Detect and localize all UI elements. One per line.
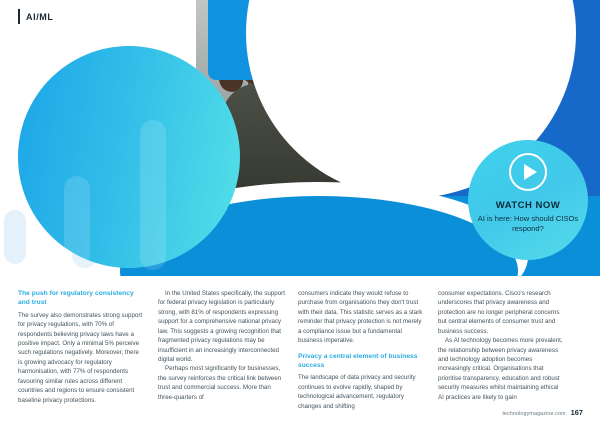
- column-paragraph: Perhaps most significantly for businesse…: [158, 364, 285, 402]
- watch-now-badge[interactable]: WATCH NOW AI is here: How should CISOs r…: [468, 140, 588, 260]
- overlay-pill-2: [140, 120, 166, 270]
- article-columns: The push for regulatory consistency and …: [18, 289, 584, 411]
- footer-site-url[interactable]: technologymagazine.com: [502, 411, 565, 417]
- column-heading: The push for regulatory consistency and …: [18, 289, 145, 308]
- column-paragraph: As AI technology becomes more prevalent,…: [438, 336, 565, 402]
- category-header: AI/ML: [18, 9, 54, 24]
- article-column-4: consumer expectations. Cisco's research …: [438, 289, 565, 411]
- watch-now-title: WATCH NOW: [496, 200, 560, 211]
- column-heading: Privacy a central element of business su…: [298, 352, 425, 371]
- article-column-3: consumers indicate they would refuse to …: [298, 289, 425, 411]
- footer-page-number: 167: [571, 408, 583, 417]
- article-column-1: The push for regulatory consistency and …: [18, 289, 145, 411]
- overlay-pill-1: [64, 176, 90, 268]
- column-paragraph: consumer expectations. Cisco's research …: [438, 289, 565, 336]
- play-triangle-icon: [524, 164, 537, 180]
- column-paragraph: consumers indicate they would refuse to …: [298, 289, 425, 346]
- play-icon[interactable]: [509, 153, 547, 191]
- category-label: AI/ML: [26, 12, 54, 22]
- column-paragraph: The survey also demonstrates strong supp…: [18, 311, 145, 405]
- article-column-2: In the United States specifically, the s…: [158, 289, 285, 411]
- column-paragraph: In the United States specifically, the s…: [158, 289, 285, 364]
- page-footer: technologymagazine.com 167: [502, 408, 583, 417]
- watch-now-subtitle: AI is here: How should CISOs respond?: [476, 214, 580, 235]
- column-paragraph: The landscape of data privacy and securi…: [298, 373, 425, 411]
- bg-pill-1: [4, 210, 26, 264]
- magazine-page: AI/ML: [0, 0, 600, 424]
- header-rule-icon: [18, 9, 20, 24]
- big-cyan-circle: [18, 46, 240, 268]
